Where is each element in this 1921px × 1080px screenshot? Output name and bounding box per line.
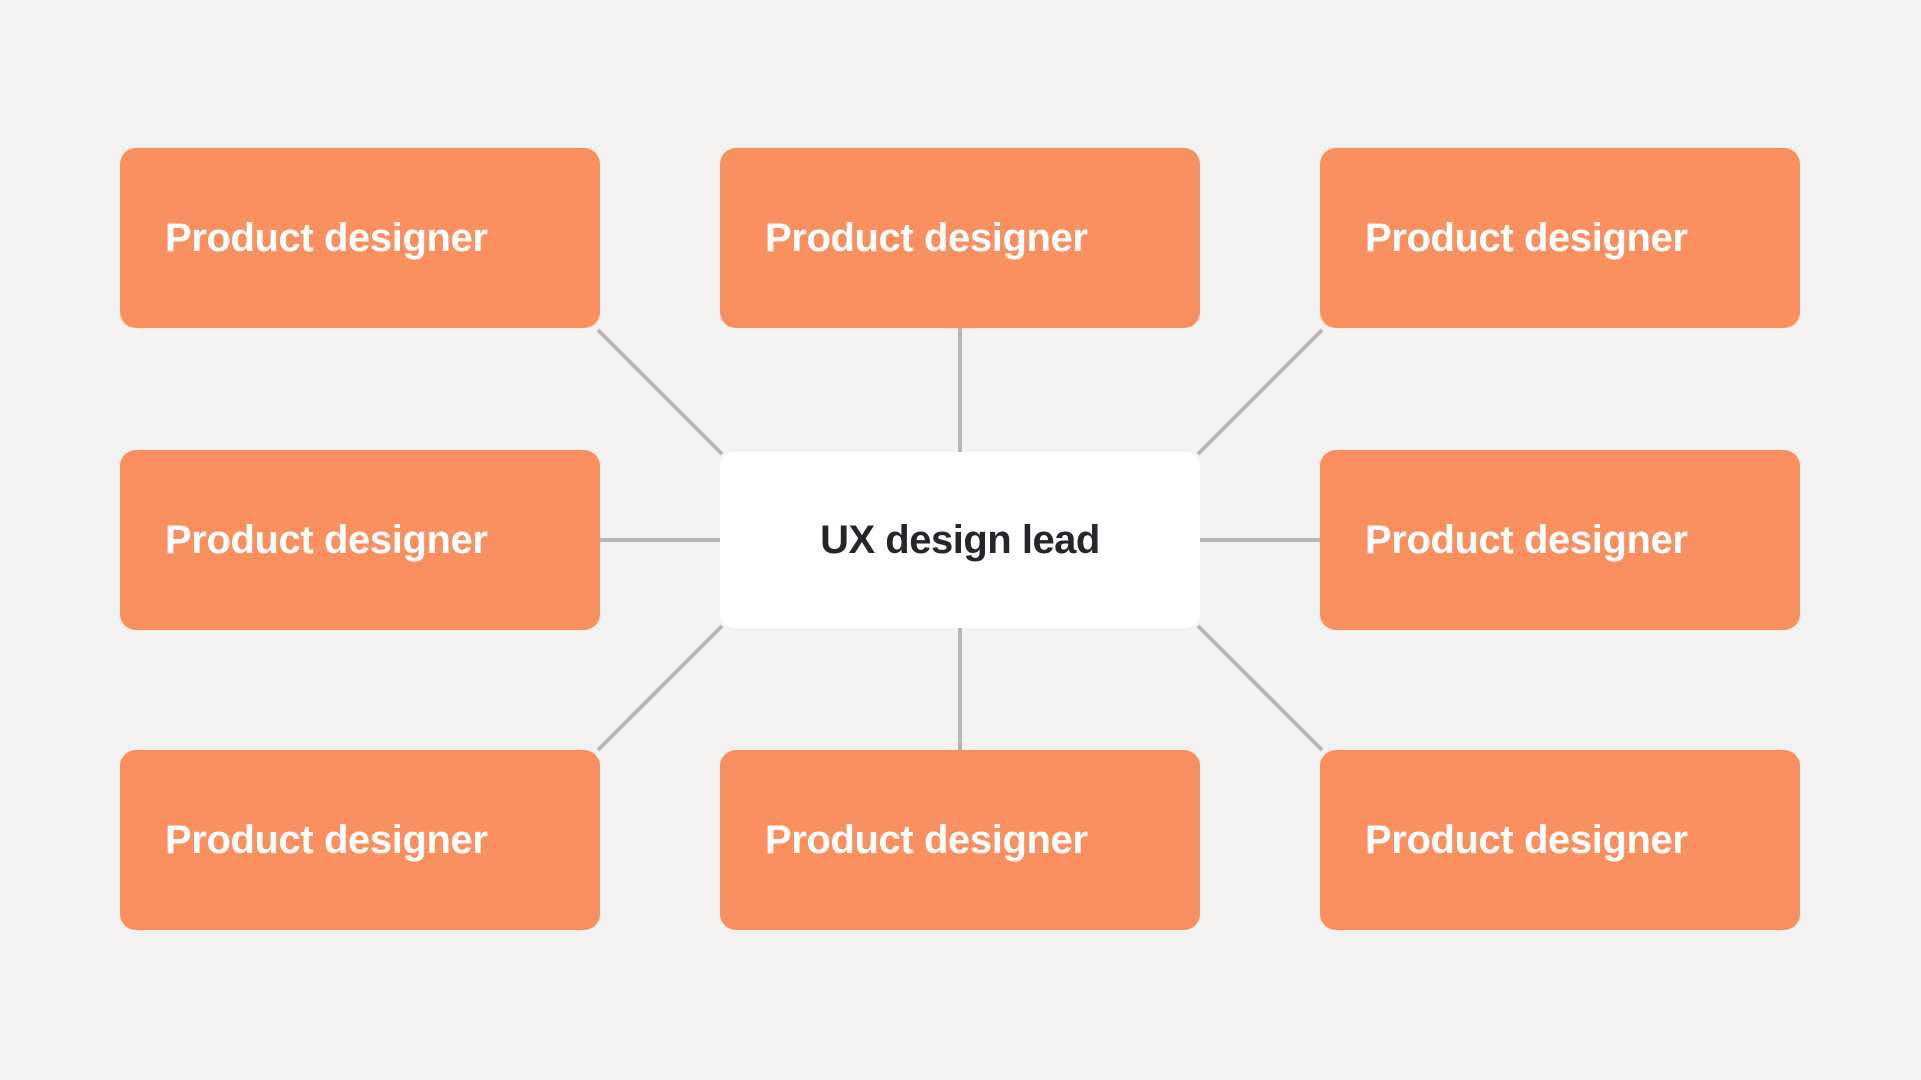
leaf-node-product-designer[interactable]: Product designer [120, 750, 600, 930]
root-node-ux-design-lead[interactable]: UX design lead [720, 452, 1200, 628]
connector-top-left [598, 330, 722, 454]
leaf-node-label: Product designer [765, 818, 1088, 862]
leaf-node-product-designer[interactable]: Product designer [120, 148, 600, 328]
root-node-label: UX design lead [820, 518, 1100, 562]
leaf-node-label: Product designer [1365, 818, 1688, 862]
leaf-node-label: Product designer [1365, 216, 1688, 260]
leaf-node-product-designer[interactable]: Product designer [1320, 148, 1800, 328]
leaf-node-product-designer[interactable]: Product designer [720, 148, 1200, 328]
leaf-node-label: Product designer [1365, 518, 1688, 562]
connector-bottom-left [598, 626, 722, 750]
connector-top-right [1198, 330, 1322, 454]
leaf-node-product-designer[interactable]: Product designer [120, 450, 600, 630]
leaf-node-label: Product designer [765, 216, 1088, 260]
leaf-node-product-designer[interactable]: Product designer [1320, 450, 1800, 630]
leaf-node-label: Product designer [165, 216, 488, 260]
diagram-canvas: UX design leadProduct designerProduct de… [0, 0, 1921, 1080]
leaf-node-label: Product designer [165, 818, 488, 862]
leaf-node-label: Product designer [165, 518, 488, 562]
connector-bottom-right [1198, 626, 1322, 750]
leaf-node-product-designer[interactable]: Product designer [1320, 750, 1800, 930]
leaf-node-product-designer[interactable]: Product designer [720, 750, 1200, 930]
